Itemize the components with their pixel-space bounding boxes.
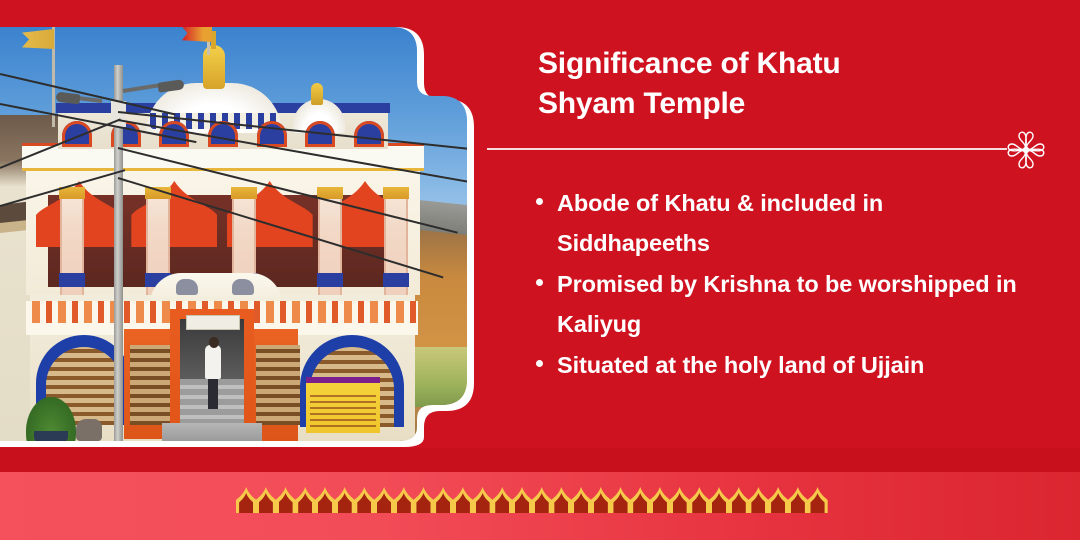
arcade-arch: [354, 121, 384, 147]
toran-arch: [492, 487, 512, 513]
list-item: Situated at the holy land of Ujjain: [536, 346, 1036, 386]
elephant-frieze-arch: [150, 273, 282, 304]
toran-arch: [669, 487, 689, 513]
temple-flag: [182, 27, 212, 42]
bullet-dot-icon: [536, 279, 543, 286]
list-item-label: Situated at the holy land of Ujjain: [557, 346, 924, 386]
arcade-arch: [257, 121, 287, 147]
toran-arch: [807, 487, 827, 513]
devotee-body: [205, 345, 221, 379]
toran-arch: [453, 487, 473, 513]
toran-arch: [709, 487, 729, 513]
toran-arch: [413, 487, 433, 513]
page-title-line-2: Shyam Temple: [538, 84, 1008, 124]
toran-arch: [748, 487, 768, 513]
bullet-dot-icon: [536, 360, 543, 367]
toran-arch: [551, 487, 571, 513]
toran-arch: [729, 487, 749, 513]
toran-arch: [256, 487, 276, 513]
entrance-plinth: [162, 423, 262, 441]
toran-arch: [591, 487, 611, 513]
street-dog: [76, 419, 102, 441]
toran-arch: [374, 487, 394, 513]
list-item: Abode of Khatu & included in Siddhapeeth…: [536, 184, 1036, 264]
entrance-signboard: [186, 315, 240, 330]
toran-arch: [295, 487, 315, 513]
toran-arch: [394, 487, 414, 513]
noticeboard-text-lines: [310, 395, 376, 427]
pillar: [60, 187, 84, 295]
title-divider: [487, 148, 1007, 150]
elephant-motif: [176, 279, 198, 295]
elephant-motif: [232, 279, 254, 295]
bullet-list: Abode of Khatu & included in Siddhapeeth…: [536, 184, 1036, 387]
temple-photo: [0, 27, 467, 441]
toran-arch: [335, 487, 355, 513]
arcade-arch: [62, 121, 92, 147]
page-title-line-1: Significance of Khatu: [538, 44, 1008, 84]
toran-arch: [571, 487, 591, 513]
list-item: Promised by Krishna to be worshipped in …: [536, 265, 1036, 345]
toran-arch: [275, 487, 295, 513]
toran-arch: [788, 487, 808, 513]
devotee-legs: [208, 377, 218, 409]
toran-garland-decoration: [236, 487, 827, 513]
toran-arch: [354, 487, 374, 513]
toran-arch: [630, 487, 650, 513]
temple-photo-panel: [0, 27, 474, 447]
page-title: Significance of Khatu Shyam Temple: [538, 44, 1008, 124]
pillar: [384, 187, 408, 295]
slide-root: Significance of Khatu Shyam Temple Abode…: [0, 0, 1080, 540]
toran-arch: [768, 487, 788, 513]
secondary-kalash-finial: [311, 83, 323, 105]
bullet-dot-icon: [536, 198, 543, 205]
list-item-label: Abode of Khatu & included in Siddhapeeth…: [557, 184, 1036, 264]
toran-arch: [650, 487, 670, 513]
plant-pot: [34, 431, 68, 441]
left-center-grill: [130, 345, 174, 425]
toran-arch: [512, 487, 532, 513]
devotee-head: [209, 337, 219, 348]
list-item-label: Promised by Krishna to be worshipped in …: [557, 265, 1036, 345]
toran-arch: [472, 487, 492, 513]
footer-dark-band: [0, 448, 1080, 472]
right-center-grill: [256, 345, 300, 425]
four-lobed-knot-ornament: [1003, 130, 1049, 170]
toran-arch: [610, 487, 630, 513]
toran-arch: [689, 487, 709, 513]
toran-arch: [236, 487, 256, 513]
toran-arch: [433, 487, 453, 513]
toran-arch: [532, 487, 552, 513]
photo-canvas: [0, 27, 467, 441]
toran-arch: [315, 487, 335, 513]
